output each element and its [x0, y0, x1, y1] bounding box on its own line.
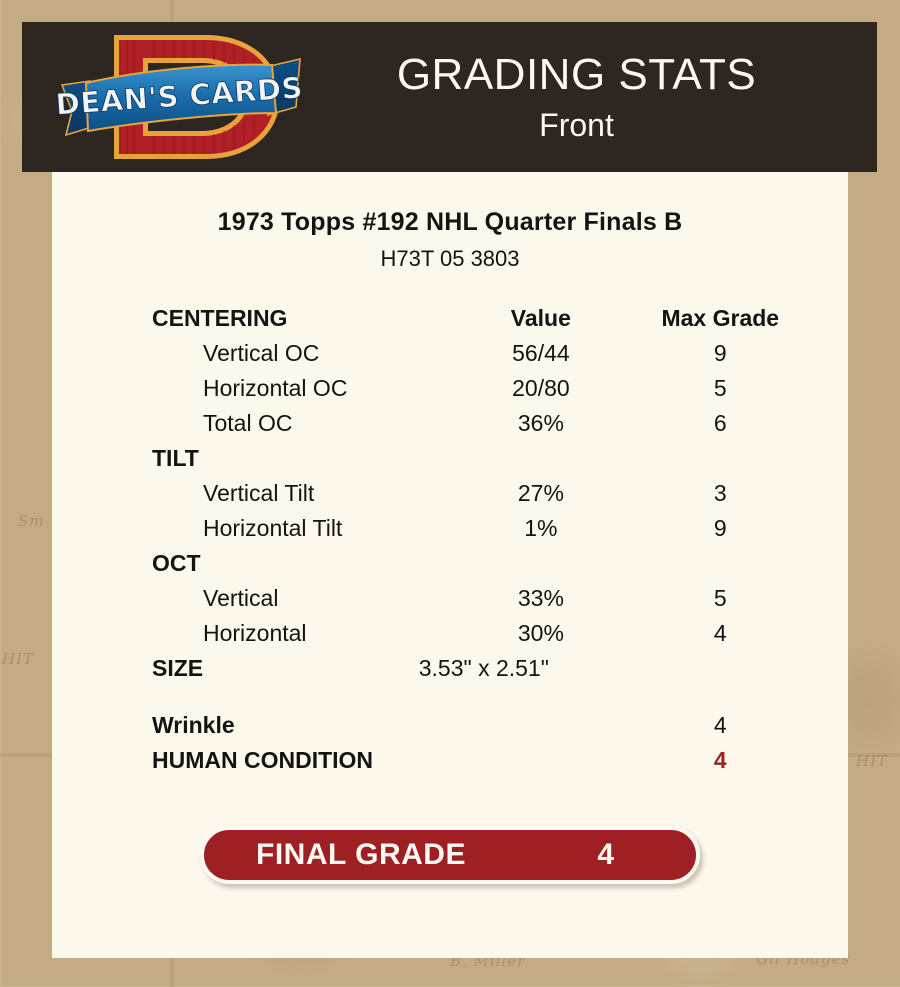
size-value: 3.53" x 2.51"	[394, 655, 573, 682]
final-grade-banner: FINAL GRADE 4	[200, 826, 700, 884]
row-label: Horizontal Tilt	[152, 515, 451, 542]
row-label: Vertical OC	[152, 340, 451, 367]
page-title: GRADING STATS	[316, 53, 837, 97]
final-grade-value: 4	[597, 838, 614, 872]
row-spacer	[152, 690, 810, 712]
deans-cards-logo-icon: DEAN'S CARDS	[56, 23, 316, 171]
section-title-centering: CENTERING	[152, 305, 451, 332]
table-row: Horizontal 30% 4	[152, 620, 810, 655]
row-label: Horizontal	[152, 620, 451, 647]
row-label: Total OC	[152, 410, 451, 437]
row-max-grade: 5	[631, 375, 810, 402]
grading-stats-page: Sm HIT B. Miller Gil Hodges HIT	[0, 0, 900, 987]
row-max-grade: 3	[631, 480, 810, 507]
row-value: 30%	[451, 620, 630, 647]
background-script-mark: HIT	[2, 650, 34, 668]
page-subtitle: Front	[316, 109, 837, 141]
row-label: Horizontal OC	[152, 375, 451, 402]
background-script-mark: Sm	[18, 512, 45, 530]
table-row: Vertical 33% 5	[152, 585, 810, 620]
column-header-max-grade: Max Grade	[631, 305, 810, 332]
wrinkle-label: Wrinkle	[152, 712, 451, 739]
human-condition-grade: 4	[631, 747, 810, 774]
table-row: Total OC 36% 6	[152, 410, 810, 445]
row-value: 36%	[451, 410, 630, 437]
final-grade-label: FINAL GRADE	[256, 838, 466, 872]
deans-cards-logo[interactable]: DEAN'S CARDS	[56, 23, 316, 171]
wrinkle-row: Wrinkle 4	[152, 712, 810, 747]
table-row: Horizontal OC 20/80 5	[152, 375, 810, 410]
row-value: 27%	[451, 480, 630, 507]
table-header-row: CENTERING Value Max Grade	[152, 305, 810, 340]
page-header: DEAN'S CARDS GRADING STATS Front	[22, 22, 877, 172]
final-grade-container: FINAL GRADE 4	[52, 826, 848, 884]
content-panel: 1973 Topps #192 NHL Quarter Finals B H73…	[52, 172, 848, 958]
table-row: Horizontal Tilt 1% 9	[152, 515, 810, 550]
row-label: Vertical Tilt	[152, 480, 451, 507]
card-serial: H73T 05 3803	[52, 246, 848, 272]
table-row: Vertical Tilt 27% 3	[152, 480, 810, 515]
row-max-grade: 5	[631, 585, 810, 612]
header-title-group: GRADING STATS Front	[316, 53, 877, 141]
section-row-tilt: TILT	[152, 445, 810, 480]
table-row: Vertical OC 56/44 9	[152, 340, 810, 375]
row-label: Vertical	[152, 585, 451, 612]
human-condition-label: HUMAN CONDITION	[152, 747, 451, 774]
row-max-grade: 4	[631, 620, 810, 647]
row-max-grade: 9	[631, 340, 810, 367]
row-value: 56/44	[451, 340, 630, 367]
size-row: SIZE 3.53" x 2.51"	[152, 655, 810, 690]
human-condition-row: HUMAN CONDITION 4	[152, 747, 810, 782]
row-value: 1%	[451, 515, 630, 542]
row-max-grade: 9	[631, 515, 810, 542]
wrinkle-grade: 4	[631, 712, 810, 739]
card-title: 1973 Topps #192 NHL Quarter Finals B	[52, 208, 848, 237]
section-title-oct: OCT	[152, 550, 451, 577]
column-header-value: Value	[451, 305, 630, 332]
section-title-tilt: TILT	[152, 445, 451, 472]
row-value: 33%	[451, 585, 630, 612]
section-row-oct: OCT	[152, 550, 810, 585]
row-value: 20/80	[451, 375, 630, 402]
background-script-mark: HIT	[856, 752, 888, 770]
grading-stats-table: CENTERING Value Max Grade Vertical OC 56…	[52, 305, 848, 782]
row-max-grade: 6	[631, 410, 810, 437]
